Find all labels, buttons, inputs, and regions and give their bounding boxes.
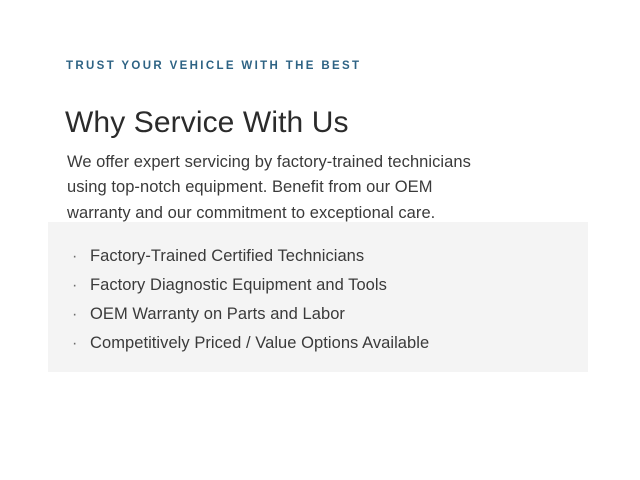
service-promo-section: TRUST YOUR VEHICLE WITH THE BEST Why Ser…: [0, 0, 640, 480]
list-item-label: Factory-Trained Certified Technicians: [90, 247, 364, 265]
bullet-dot-icon: ·: [72, 247, 90, 267]
list-item: ·OEM Warranty on Parts and Labor: [72, 304, 345, 325]
list-item: ·Competitively Priced / Value Options Av…: [72, 333, 429, 354]
list-item: ·Factory-Trained Certified Technicians: [72, 246, 364, 267]
page-title: Why Service With Us: [65, 104, 349, 142]
list-item-label: OEM Warranty on Parts and Labor: [90, 305, 345, 323]
intro-paragraph: We offer expert servicing by factory-tra…: [67, 150, 567, 227]
bullet-dot-icon: ·: [72, 276, 90, 296]
bullet-dot-icon: ·: [72, 334, 90, 354]
list-item-label: Competitively Priced / Value Options Ava…: [90, 334, 429, 352]
intro-line: We offer expert servicing by factory-tra…: [67, 150, 567, 176]
bullet-dot-icon: ·: [72, 305, 90, 325]
intro-line: using top-notch equipment. Benefit from …: [67, 175, 567, 201]
list-item: ·Factory Diagnostic Equipment and Tools: [72, 275, 387, 296]
list-item-label: Factory Diagnostic Equipment and Tools: [90, 276, 387, 294]
section-eyebrow: TRUST YOUR VEHICLE WITH THE BEST: [66, 59, 361, 73]
feature-highlight-box: ·Factory-Trained Certified Technicians ·…: [48, 222, 588, 372]
